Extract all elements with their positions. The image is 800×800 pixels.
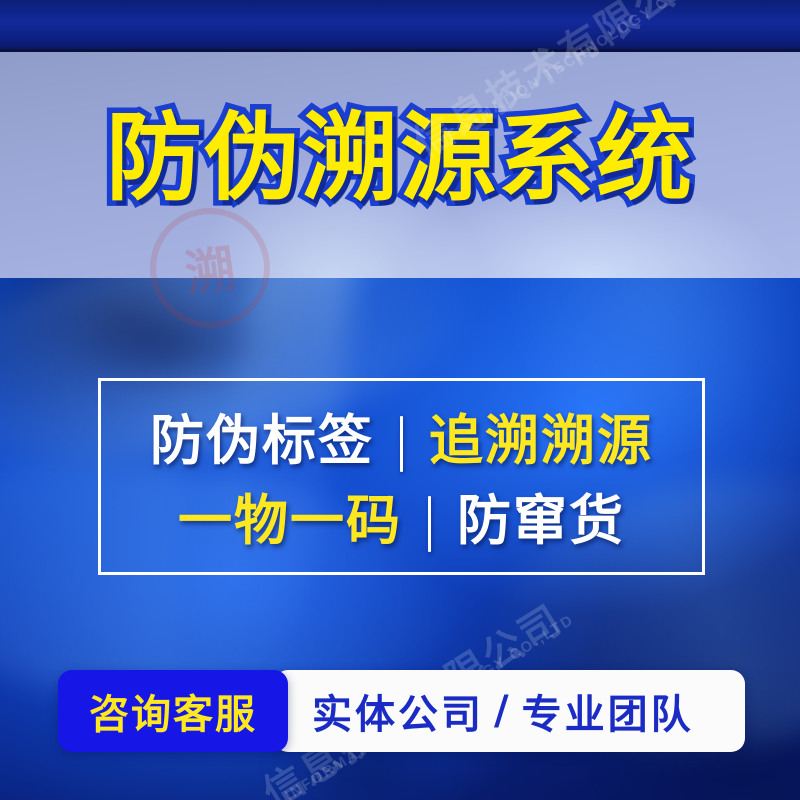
poster-canvas: 溯 防伪溯源系统 信息技术有限公司 INFORMATION TECHNOLOGY…	[0, 0, 800, 800]
page-title: 防伪溯源系统	[106, 110, 694, 206]
feature-one-item-one-code-label: 一物一码	[178, 494, 402, 548]
footer-bar: 咨询客服 实体公司 / 专业团队	[58, 670, 745, 752]
feature-highlight-box: 防伪标签 追溯溯源 一物一码 防窜货	[98, 378, 705, 575]
credential-entity-company-label: 实体公司	[312, 682, 484, 740]
feature-anti-diversion-label: 防窜货	[457, 494, 625, 548]
credential-slash-divider: /	[494, 688, 512, 734]
contact-support-button[interactable]: 咨询客服	[58, 670, 288, 752]
feature-anti-counterfeit-label: 防伪标签	[150, 414, 374, 468]
feature-row-1: 防伪标签 追溯溯源	[101, 405, 702, 477]
top-navy-band	[0, 0, 800, 52]
credential-professional-team-label: 专业团队	[522, 682, 694, 740]
title-block: 防伪溯源系统	[0, 98, 800, 218]
company-credentials-plate: 实体公司 / 专业团队	[274, 670, 745, 752]
feature-separator-icon	[400, 416, 403, 472]
feature-separator-icon	[428, 496, 431, 552]
feature-traceability-label: 追溯溯源	[429, 414, 653, 468]
feature-row-2: 一物一码 防窜货	[101, 485, 702, 557]
